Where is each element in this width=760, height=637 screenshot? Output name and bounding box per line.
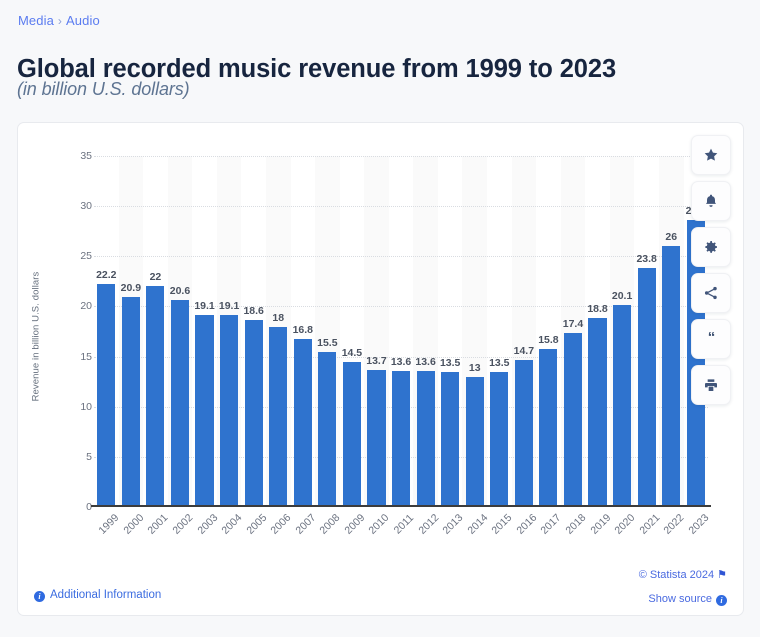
x-axis-tick-column: 2014 — [462, 509, 487, 569]
y-axis-tick: 35 — [80, 150, 92, 162]
bar[interactable] — [564, 333, 582, 507]
bar[interactable] — [638, 268, 656, 507]
y-axis-tick: 15 — [80, 351, 92, 363]
bar[interactable] — [392, 371, 410, 507]
y-axis-tick: 20 — [80, 300, 92, 312]
bar[interactable] — [662, 246, 680, 507]
bar-value-label: 20.1 — [612, 290, 632, 302]
star-icon — [703, 147, 719, 163]
bar-value-label: 18 — [272, 312, 284, 324]
chart-card: 05101520253035 Revenue in billion U.S. d… — [17, 122, 744, 616]
bell-icon — [703, 193, 719, 209]
bar-value-label: 15.8 — [538, 334, 558, 346]
x-axis-tick-column: 2016 — [512, 509, 537, 569]
x-axis-tick: 2023 — [686, 512, 711, 537]
bar-value-label: 13 — [469, 362, 481, 374]
bar-column[interactable]: 16.8 — [291, 156, 316, 507]
page-subtitle: (in billion U.S. dollars) — [17, 79, 190, 100]
quote-icon: “ — [708, 330, 715, 345]
share-button[interactable] — [691, 273, 731, 313]
bar-series: 22.220.92220.619.119.118.61816.815.514.5… — [94, 156, 708, 507]
bar-value-label: 20.9 — [121, 282, 141, 294]
x-axis-tick-column: 2015 — [487, 509, 512, 569]
bar-value-label: 14.7 — [514, 345, 534, 357]
y-axis-ticks: 05101520253035 — [64, 156, 92, 507]
show-source-label: Show source — [648, 593, 712, 605]
bar-column[interactable]: 13.5 — [438, 156, 463, 507]
x-axis-tick-column: 2007 — [291, 509, 316, 569]
y-axis-tick: 5 — [86, 451, 92, 463]
bar-value-label: 26 — [665, 231, 677, 243]
bar-column[interactable]: 20.9 — [119, 156, 144, 507]
print-button[interactable] — [691, 365, 731, 405]
bar-value-label: 13.6 — [391, 356, 411, 368]
x-axis-tick-column: 2019 — [585, 509, 610, 569]
bar-column[interactable]: 15.8 — [536, 156, 561, 507]
bar[interactable] — [539, 349, 557, 507]
bar-value-label: 13.5 — [489, 357, 509, 369]
bar-column[interactable]: 22 — [143, 156, 168, 507]
x-axis-tick-column: 2005 — [241, 509, 266, 569]
breadcrumb-item-audio[interactable]: Audio — [66, 13, 100, 28]
bar-value-label: 13.7 — [366, 355, 386, 367]
x-axis-tick-column: 2010 — [364, 509, 389, 569]
bar-column[interactable]: 26 — [659, 156, 684, 507]
x-axis-tick-column: 2000 — [119, 509, 144, 569]
x-axis-tick-column: 2006 — [266, 509, 291, 569]
bar-column[interactable]: 14.7 — [512, 156, 537, 507]
x-axis-tick-column: 2021 — [634, 509, 659, 569]
bar-value-label: 13.5 — [440, 357, 460, 369]
bar-column[interactable]: 17.4 — [561, 156, 586, 507]
y-axis-title: Revenue in billion U.S. dollars — [31, 227, 42, 447]
bar[interactable] — [588, 318, 606, 507]
x-axis-tick-column: 1999 — [94, 509, 119, 569]
bar-column[interactable]: 13.7 — [364, 156, 389, 507]
x-axis-tick-column: 2008 — [315, 509, 340, 569]
copyright[interactable]: © Statista 2024⚑ — [639, 568, 727, 581]
y-axis-tick: 30 — [80, 200, 92, 212]
bar-value-label: 22 — [150, 271, 162, 283]
bar[interactable] — [613, 305, 631, 507]
x-axis-tick-column: 2003 — [192, 509, 217, 569]
bar-value-label: 16.8 — [293, 324, 313, 336]
bar-chart: 05101520253035 Revenue in billion U.S. d… — [18, 123, 745, 617]
info-icon: i — [716, 595, 727, 606]
gear-icon — [703, 239, 719, 255]
x-axis-tick-column: 2002 — [168, 509, 193, 569]
bar-value-label: 14.5 — [342, 347, 362, 359]
bar-value-label: 22.2 — [96, 269, 116, 281]
x-axis-tick-column: 2018 — [561, 509, 586, 569]
bar-column[interactable]: 22.2 — [94, 156, 119, 507]
flag-icon[interactable]: ⚑ — [717, 569, 727, 581]
notify-button[interactable] — [691, 181, 731, 221]
info-icon: i — [34, 591, 45, 602]
bar[interactable] — [515, 360, 533, 507]
bar-column[interactable]: 19.1 — [192, 156, 217, 507]
bar[interactable] — [490, 372, 508, 507]
chart-toolbar: “ — [691, 135, 733, 405]
bar-value-label: 18.8 — [587, 303, 607, 315]
bar-column[interactable]: 13.6 — [389, 156, 414, 507]
show-source-link[interactable]: Show sourcei — [648, 593, 727, 606]
bar[interactable] — [195, 315, 213, 507]
x-axis-tick-column: 2001 — [143, 509, 168, 569]
y-axis-tick: 25 — [80, 250, 92, 262]
bar-value-label: 18.6 — [243, 305, 263, 317]
bar[interactable] — [146, 286, 164, 507]
copyright-text: © Statista 2024 — [639, 569, 714, 581]
breadcrumb-separator: › — [58, 14, 62, 28]
x-axis-tick-column: 2012 — [413, 509, 438, 569]
breadcrumb: Media›Audio — [18, 13, 100, 28]
additional-information-link[interactable]: iAdditional Information — [34, 589, 161, 602]
bar[interactable] — [417, 371, 435, 507]
x-axis-tick-column: 2022 — [659, 509, 684, 569]
additional-information-label: Additional Information — [50, 589, 161, 601]
favorite-button[interactable] — [691, 135, 731, 175]
bar-column[interactable]: 20.1 — [610, 156, 635, 507]
x-axis-ticks: 1999200020012002200320042005200620072008… — [94, 509, 708, 569]
bar-column[interactable]: 18 — [266, 156, 291, 507]
bar[interactable] — [220, 315, 238, 507]
x-axis-tick-column: 2004 — [217, 509, 242, 569]
x-axis-tick-column: 2011 — [389, 509, 414, 569]
x-axis-tick-column: 2009 — [340, 509, 365, 569]
bar-column[interactable]: 14.5 — [340, 156, 365, 507]
plot-area: 22.220.92220.619.119.118.61816.815.514.5… — [94, 156, 708, 507]
bar-column[interactable]: 15.5 — [315, 156, 340, 507]
bar-value-label: 20.6 — [170, 285, 190, 297]
share-icon — [703, 285, 719, 301]
bar-value-label: 23.8 — [636, 253, 656, 265]
bar-value-label: 15.5 — [317, 337, 337, 349]
statista-chart-page: Media›Audio Global recorded music revenu… — [0, 0, 760, 637]
x-axis-line — [91, 505, 711, 507]
bar-column[interactable]: 13 — [462, 156, 487, 507]
cite-button[interactable]: “ — [691, 319, 731, 359]
x-axis-tick-column: 2023 — [684, 509, 709, 569]
bar[interactable] — [441, 372, 459, 507]
bar-value-label: 19.1 — [194, 300, 214, 312]
bar-value-label: 17.4 — [563, 318, 583, 330]
bar[interactable] — [294, 339, 312, 507]
bar-value-label: 19.1 — [219, 300, 239, 312]
bar[interactable] — [122, 297, 140, 507]
y-axis-tick: 0 — [86, 501, 92, 513]
x-axis-tick-column: 2020 — [610, 509, 635, 569]
bar-value-label: 13.6 — [415, 356, 435, 368]
x-axis-tick-column: 2017 — [536, 509, 561, 569]
bar-column[interactable]: 19.1 — [217, 156, 242, 507]
bar-column[interactable]: 18.6 — [241, 156, 266, 507]
y-axis-tick: 10 — [80, 401, 92, 413]
print-icon — [703, 377, 719, 393]
bar[interactable] — [97, 284, 115, 507]
bar[interactable] — [367, 370, 385, 507]
bar[interactable] — [343, 362, 361, 507]
bar-column[interactable]: 18.8 — [585, 156, 610, 507]
bar-column[interactable]: 20.6 — [168, 156, 193, 507]
bar-column[interactable]: 23.8 — [634, 156, 659, 507]
x-axis-tick-column: 2013 — [438, 509, 463, 569]
bar-column[interactable]: 13.6 — [413, 156, 438, 507]
bar[interactable] — [245, 320, 263, 507]
bar[interactable] — [318, 352, 336, 507]
bar-column[interactable]: 13.5 — [487, 156, 512, 507]
bar[interactable] — [269, 327, 287, 508]
breadcrumb-item-media[interactable]: Media — [18, 13, 54, 28]
bar[interactable] — [466, 377, 484, 507]
bar[interactable] — [171, 300, 189, 507]
settings-button[interactable] — [691, 227, 731, 267]
